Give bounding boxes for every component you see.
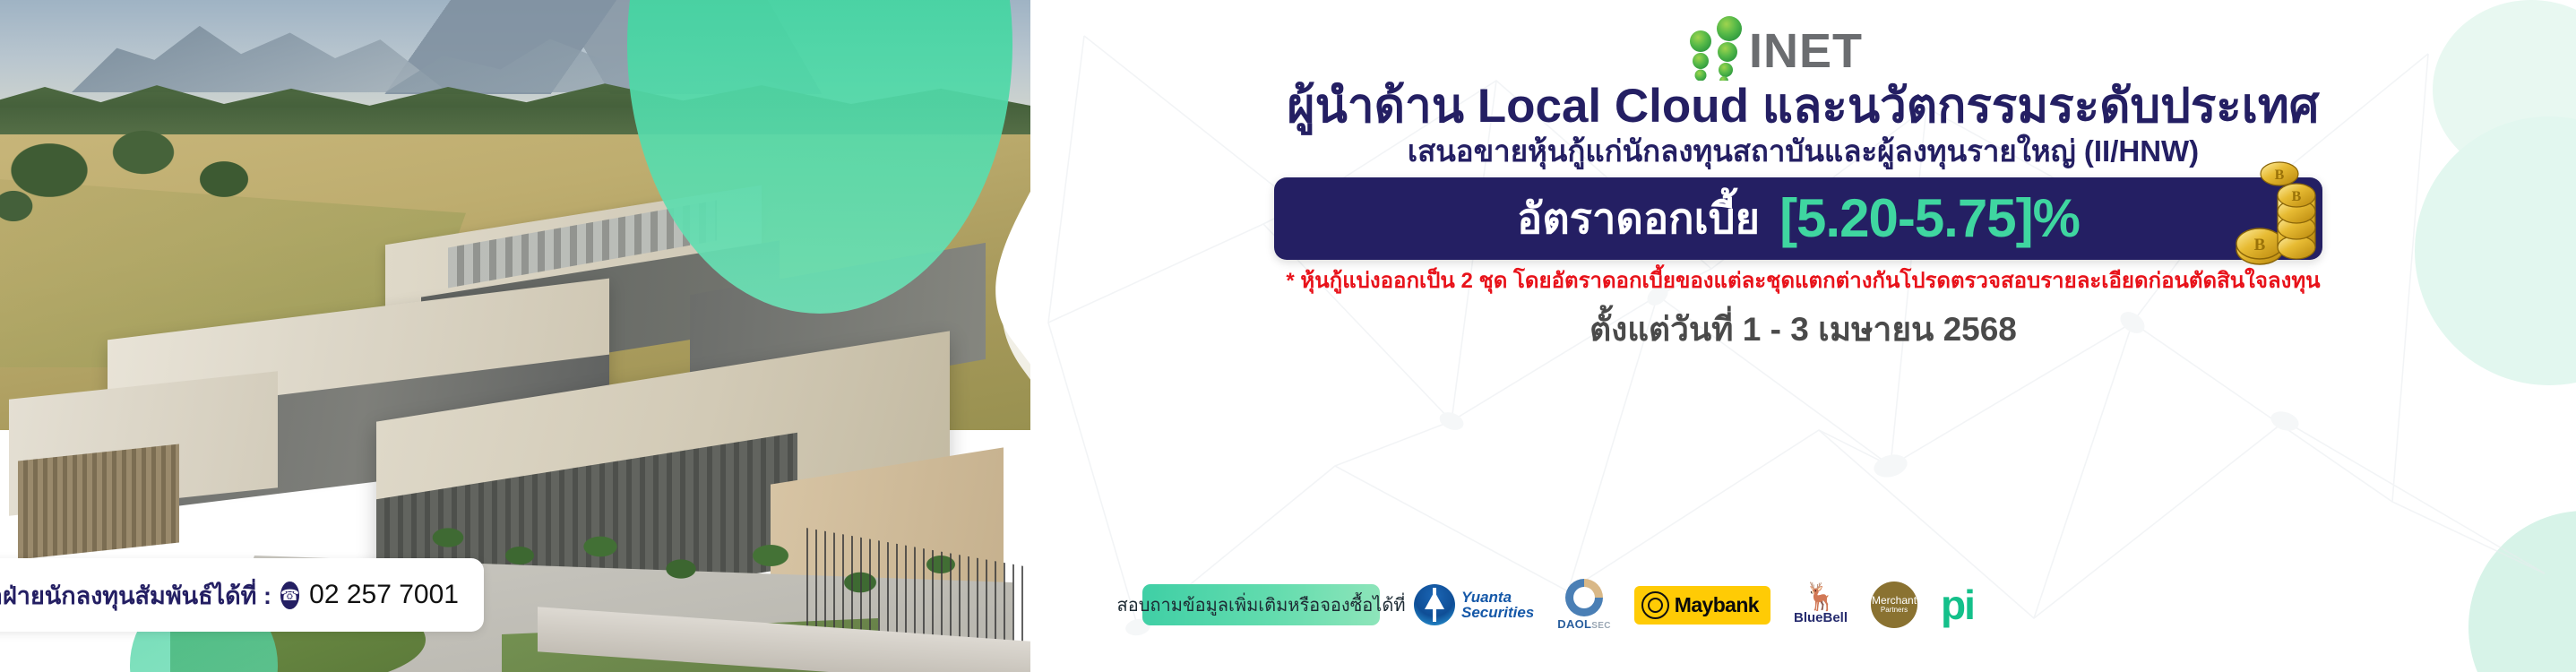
daol-text: DAOL (1557, 617, 1591, 631)
yuanta-star-icon (1414, 584, 1455, 625)
page-title: ผู้นำด้าน Local Cloud และนวัตกรรมระดับปร… (1030, 79, 2576, 134)
partner-pi[interactable]: pi (1941, 584, 1974, 625)
content-panel: INET ผู้นำด้าน Local Cloud และนวัตกรรมระ… (1030, 0, 2576, 672)
cta-and-partners-row: สอบถามข้อมูลเพิ่มเติมหรือจองซื้อได้ที่ Y… (1030, 573, 2576, 636)
interest-rate-label: อัตราดอกเบี้ย (1517, 194, 1760, 244)
partner-merchant-partners[interactable]: Merchant Partners (1871, 582, 1917, 628)
bluebell-text: BlueBell (1794, 610, 1848, 625)
offering-date: ตั้งแต่วันที่ 1 - 3 เมษายน 2568 (1030, 309, 2576, 350)
svg-text:B: B (2292, 189, 2302, 204)
svg-text:B: B (2254, 236, 2266, 254)
phone-icon: ☎ (280, 582, 299, 609)
contact-phone-number[interactable]: 02 257 7001 (309, 580, 459, 610)
maybank-text: Maybank (1675, 593, 1759, 617)
partner-bluebell[interactable]: 🦌 BlueBell (1794, 584, 1848, 625)
promotional-banner: INET ผู้นำด้าน Local Cloud และนวัตกรรมระ… (0, 0, 2576, 672)
inet-logo: INET (1649, 16, 1908, 81)
photo-trees (0, 108, 296, 242)
page-subtitle: เสนอขายหุ้นกู้แก่นักลงทุนสถาบันและผู้ลงท… (1030, 133, 2576, 170)
partner-yuanta-securities[interactable]: Yuanta Securities (1414, 584, 1534, 625)
inet-wordmark: INET (1749, 25, 1863, 77)
yuanta-line2: Securities (1461, 605, 1534, 620)
merchant-line1: Merchant (1872, 595, 1917, 606)
partner-logos: Yuanta Securities DAOLSEC Maybank (1414, 579, 1974, 631)
maybank-tiger-icon (1641, 591, 1669, 619)
disclaimer-text: * หุ้นกู้แบ่งออกเป็น 2 ชุด โดยอัตราดอกเบ… (1030, 267, 2576, 296)
photo-building-louvers (18, 444, 179, 560)
inquiry-button[interactable]: สอบถามข้อมูลเพิ่มเติมหรือจองซื้อได้ที่ (1142, 584, 1380, 625)
gold-coin-stack-icon: B B B (2224, 161, 2322, 269)
partner-daol-sec[interactable]: DAOLSEC (1557, 579, 1611, 631)
contact-label: ติดต่อฝ่ายนักลงทุนสัมพันธ์ได้ที่ : (0, 576, 271, 615)
merchant-line2: Partners (1881, 606, 1908, 615)
investor-relations-contact-bar: ติดต่อฝ่ายนักลงทุนสัมพันธ์ได้ที่ : ☎ 02 … (0, 558, 484, 632)
svg-text:B: B (2275, 168, 2285, 183)
daol-text-sub: SEC (1591, 621, 1610, 631)
interest-rate-value: [5.20-5.75]% (1779, 190, 2080, 247)
interest-rate-box: อัตราดอกเบี้ย [5.20-5.75]% (1274, 177, 2322, 260)
bluebell-deer-icon: 🦌 (1794, 584, 1848, 611)
yuanta-line1: Yuanta (1461, 590, 1534, 605)
pi-text: pi (1941, 584, 1974, 625)
daol-circle-icon (1565, 579, 1603, 616)
partner-maybank[interactable]: Maybank (1634, 586, 1770, 625)
